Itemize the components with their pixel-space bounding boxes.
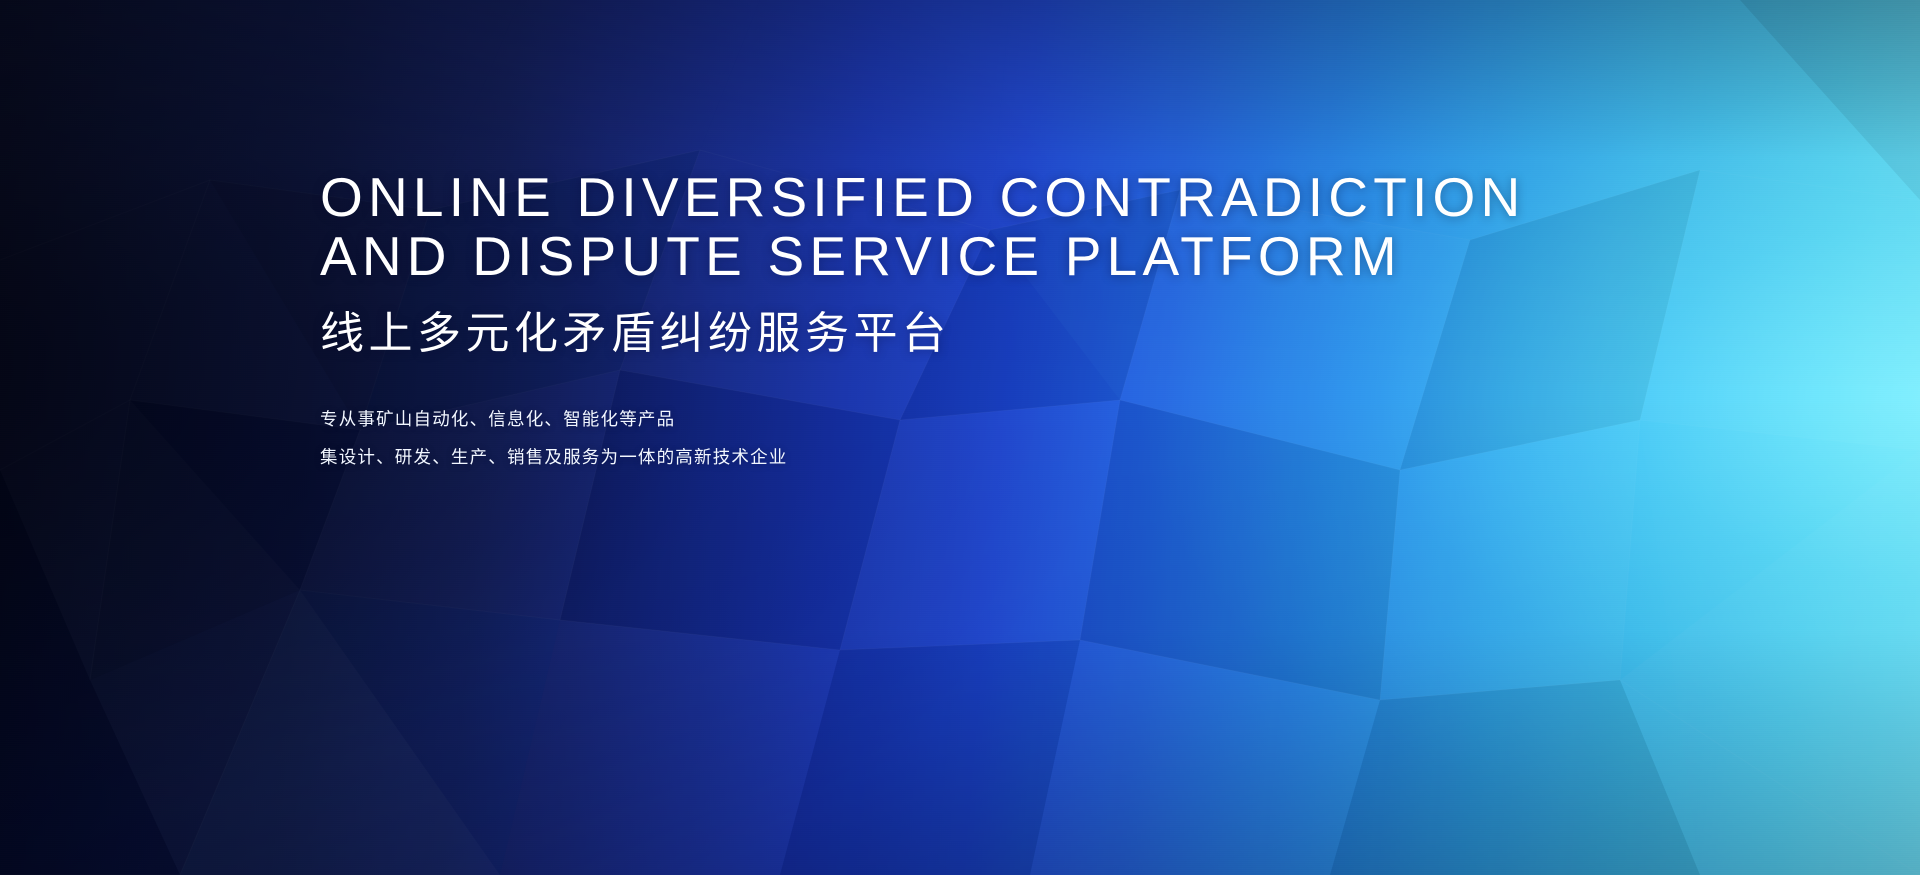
hero-subtitle: 专从事矿山自动化、信息化、智能化等产品 集设计、研发、生产、销售及服务为一体的高…	[320, 400, 1720, 476]
hero-title-english: ONLINE DIVERSIFIED CONTRADICTION AND DIS…	[320, 168, 1720, 286]
hero-title-english-line-2: AND DISPUTE SERVICE PLATFORM	[320, 227, 1720, 286]
hero-copy-block: ONLINE DIVERSIFIED CONTRADICTION AND DIS…	[320, 168, 1720, 476]
hero-subtitle-line-2: 集设计、研发、生产、销售及服务为一体的高新技术企业	[320, 438, 1720, 476]
hero-title-chinese: 线上多元化矛盾纠纷服务平台	[320, 308, 1720, 360]
hero-title-english-line-1: ONLINE DIVERSIFIED CONTRADICTION	[320, 168, 1720, 227]
hero-banner: ONLINE DIVERSIFIED CONTRADICTION AND DIS…	[0, 0, 1920, 875]
hero-subtitle-line-1: 专从事矿山自动化、信息化、智能化等产品	[320, 400, 1720, 438]
